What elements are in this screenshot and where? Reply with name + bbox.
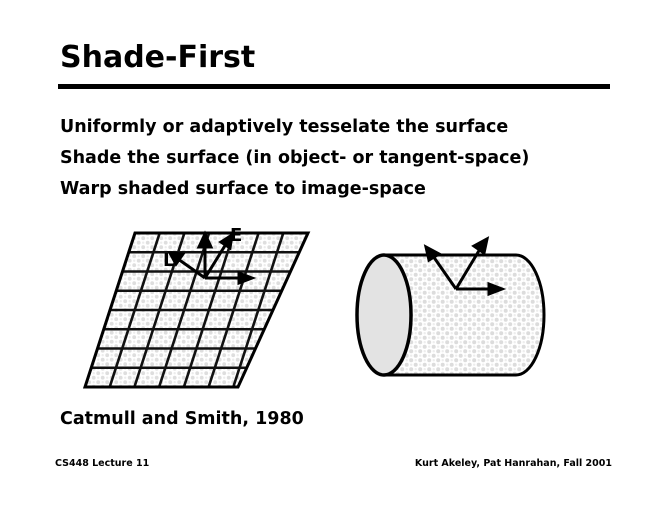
page-title: Shade-First (60, 40, 255, 76)
slide-canvas: Shade-First Uniformly or adaptively tess… (0, 0, 660, 510)
figure-shaded-cylinder (355, 232, 585, 380)
shaded-cylinder-svg (355, 232, 585, 380)
eye-vector-label: E (230, 225, 242, 246)
cylinder-end-cap (357, 255, 411, 375)
bullet-item-1: Uniformly or adaptively tesselate the su… (60, 112, 620, 143)
footer-course: CS448 Lecture 11 (55, 458, 149, 469)
figure-caption: Catmull and Smith, 1980 (60, 409, 304, 429)
bullet-item-2: Shade the surface (in object- or tangent… (60, 143, 620, 174)
bullet-item-3: Warp shaded surface to image-space (60, 174, 620, 205)
bullet-list: Uniformly or adaptively tesselate the su… (60, 112, 620, 205)
tessellated-surface-svg: L E (60, 218, 330, 398)
figure-tessellated-surface: L E (60, 218, 330, 398)
footer-authors: Kurt Akeley, Pat Hanrahan, Fall 2001 (415, 458, 612, 469)
title-divider (58, 84, 610, 89)
light-vector-label: L (163, 250, 174, 271)
